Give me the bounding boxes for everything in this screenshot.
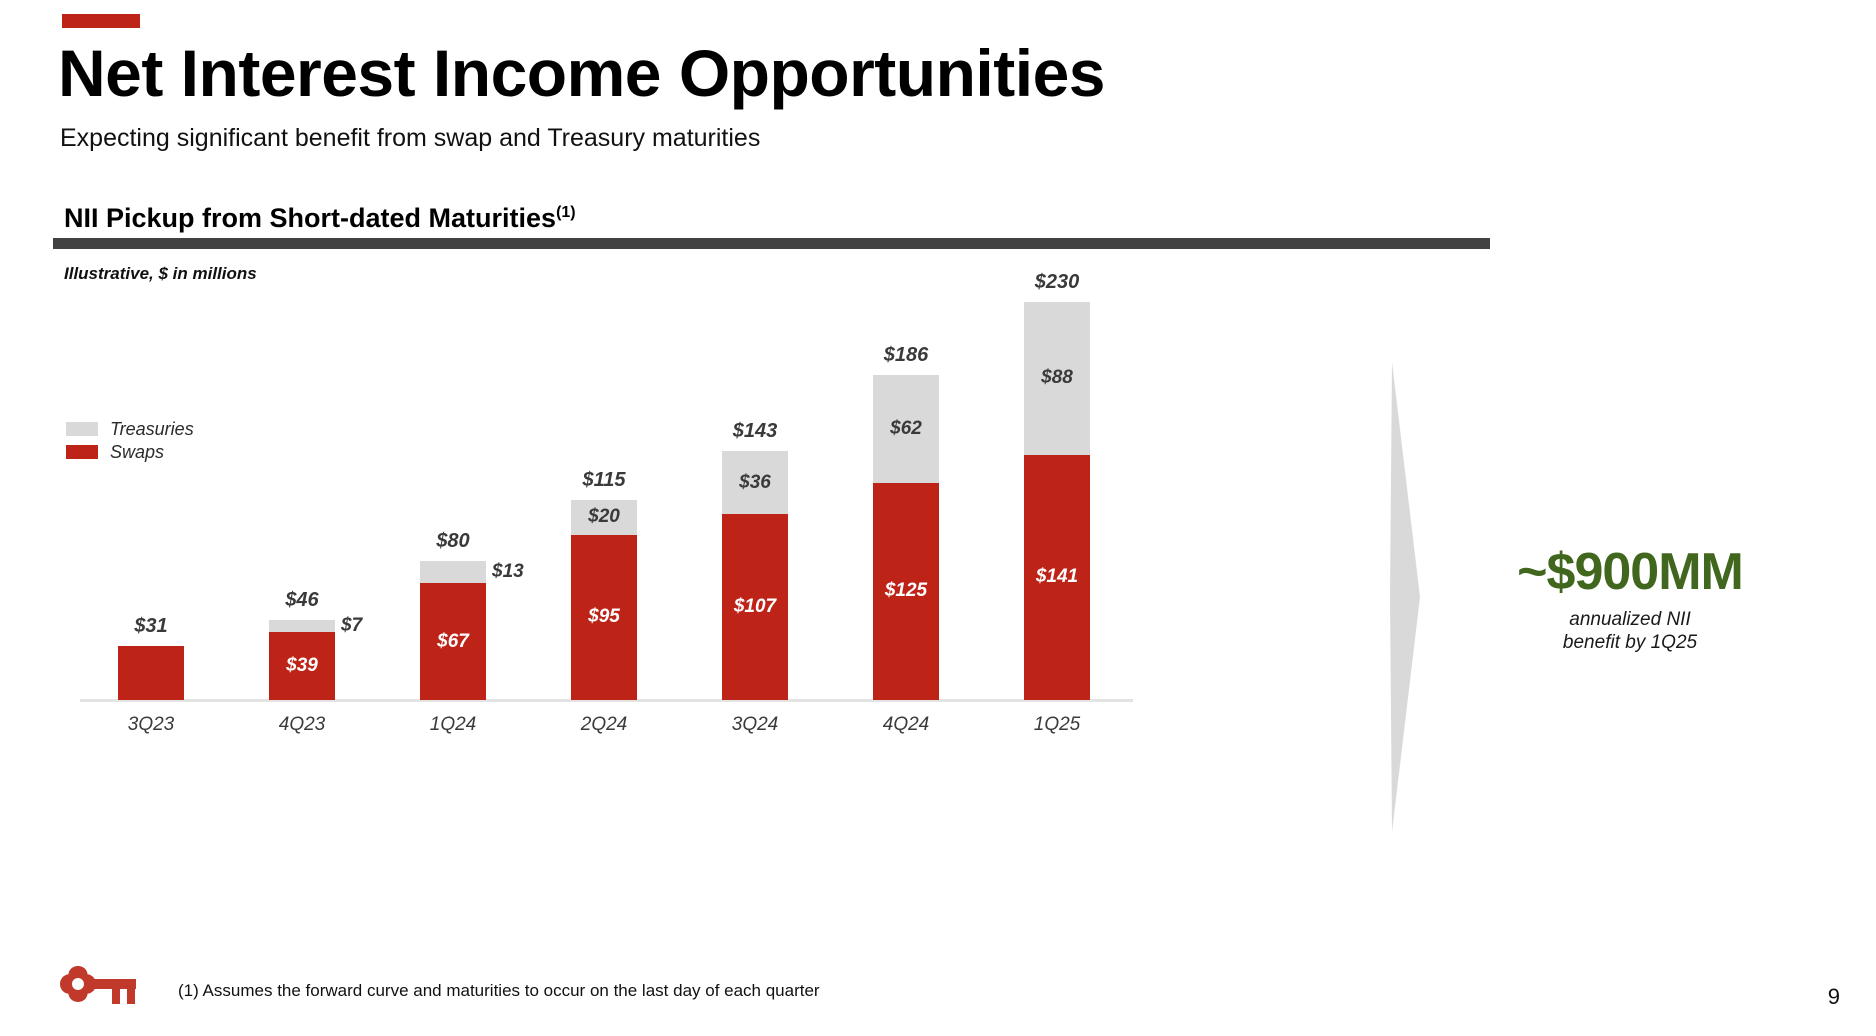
- callout-value: ~$900MM: [1440, 545, 1820, 600]
- bar-segment-label-treasuries: $36: [739, 472, 771, 494]
- x-axis-category-label: 3Q23: [128, 714, 174, 736]
- bar-total-label: $80: [436, 530, 469, 553]
- section-heading: NII Pickup from Short-dated Maturities(1…: [64, 203, 576, 234]
- bar-segment-swaps[interactable]: [118, 646, 184, 700]
- callout-subtitle-line2: benefit by 1Q25: [1440, 631, 1820, 655]
- section-heading-footnote-marker: (1): [556, 204, 576, 221]
- bar-segment-swaps[interactable]: $39: [269, 632, 335, 700]
- bar-segment-swaps[interactable]: $107: [722, 514, 788, 700]
- bar-segment-label-swaps: $67: [437, 631, 469, 653]
- keycorp-key-logo: [48, 958, 148, 1018]
- x-axis-category-label: 1Q24: [430, 714, 476, 736]
- bar-segment-label-treasuries: $7: [341, 615, 362, 637]
- bar-segment-treasuries[interactable]: $7: [269, 620, 335, 632]
- callout-block: ~$900MM annualized NII benefit by 1Q25: [1440, 545, 1820, 655]
- bar-segment-treasuries[interactable]: $88: [1024, 302, 1090, 455]
- callout-subtitle-line1: annualized NII: [1440, 608, 1820, 632]
- bar-segment-treasuries[interactable]: $36: [722, 451, 788, 514]
- bar-group[interactable]: $313Q23: [118, 646, 184, 700]
- bar-total-label: $143: [733, 420, 778, 443]
- bar-total-label: $186: [884, 344, 929, 367]
- bar-segment-label-swaps: $39: [286, 655, 318, 677]
- bar-segment-label-swaps: $107: [734, 596, 776, 618]
- bar-segment-label-treasuries: $20: [588, 506, 620, 528]
- bar-segment-label-treasuries: $13: [492, 561, 524, 583]
- x-axis-category-label: 4Q24: [883, 714, 929, 736]
- bar-group[interactable]: $143$36$1073Q24: [722, 451, 788, 700]
- x-axis-category-label: 4Q23: [279, 714, 325, 736]
- slide: Net Interest Income Opportunities Expect…: [0, 0, 1876, 1036]
- x-axis-category-label: 3Q24: [732, 714, 778, 736]
- x-axis-category-label: 2Q24: [581, 714, 627, 736]
- section-heading-text: NII Pickup from Short-dated Maturities: [64, 203, 556, 233]
- footnote: (1) Assumes the forward curve and maturi…: [178, 981, 820, 1001]
- section-rule: [53, 238, 1490, 249]
- page-subtitle: Expecting significant benefit from swap …: [60, 124, 760, 153]
- bar-segment-label-swaps: $141: [1036, 566, 1078, 588]
- bar-segment-treasuries[interactable]: $62: [873, 375, 939, 483]
- bar-group[interactable]: $80$13$671Q24: [420, 561, 486, 700]
- x-axis-category-label: 1Q25: [1034, 714, 1080, 736]
- divider-lens-shape: [1390, 362, 1424, 832]
- bar-total-label: $46: [285, 589, 318, 612]
- bar-segment-label-treasuries: $62: [890, 418, 922, 440]
- bar-segment-swaps[interactable]: $67: [420, 583, 486, 700]
- bar-group[interactable]: $186$62$1254Q24: [873, 375, 939, 700]
- bar-segment-label-swaps: $95: [588, 606, 620, 628]
- bar-segment-label-swaps: $125: [885, 580, 927, 602]
- chart-units-note: Illustrative, $ in millions: [64, 264, 257, 284]
- bar-group[interactable]: $46$7$394Q23: [269, 620, 335, 700]
- bar-segment-treasuries[interactable]: $20: [571, 500, 637, 535]
- bar-group[interactable]: $230$88$1411Q25: [1024, 302, 1090, 700]
- bar-group[interactable]: $115$20$952Q24: [571, 500, 637, 700]
- bar-total-label: $115: [582, 469, 625, 492]
- bar-segment-label-treasuries: $88: [1041, 367, 1073, 389]
- page-title: Net Interest Income Opportunities: [58, 40, 1105, 106]
- bar-segment-swaps[interactable]: $125: [873, 483, 939, 700]
- bar-segment-treasuries[interactable]: $13: [420, 561, 486, 584]
- page-number: 9: [1828, 984, 1840, 1010]
- bar-total-label: $31: [134, 615, 167, 638]
- bar-segment-swaps[interactable]: $95: [571, 535, 637, 700]
- bar-total-label: $230: [1035, 271, 1080, 294]
- bar-segment-swaps[interactable]: $141: [1024, 455, 1090, 700]
- accent-bar: [62, 14, 140, 28]
- stacked-bar-chart: $313Q23$46$7$394Q23$80$13$671Q24$115$20$…: [80, 300, 1140, 700]
- callout-subtitle: annualized NII benefit by 1Q25: [1440, 608, 1820, 656]
